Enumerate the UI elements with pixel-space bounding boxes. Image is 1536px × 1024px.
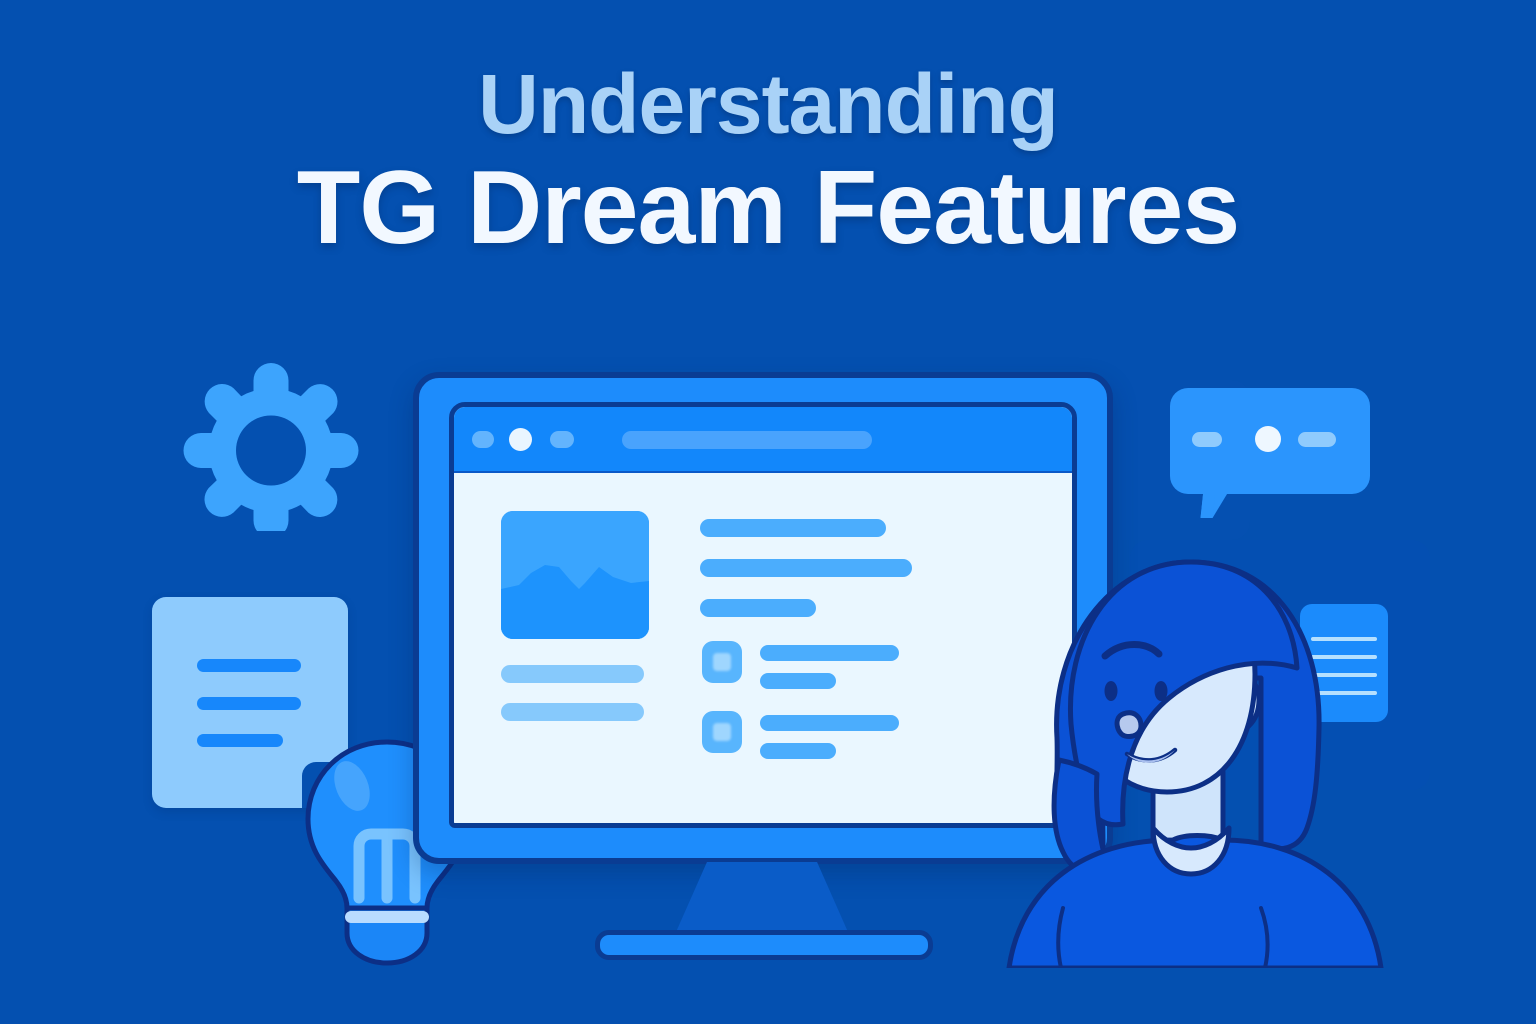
chat-dash-right [1298, 432, 1336, 447]
list-item-1-line-1 [760, 645, 899, 661]
chat-bubble-icon [1170, 388, 1370, 524]
document-line [197, 697, 301, 710]
monitor-stand-base [595, 930, 933, 960]
title-line-1: Understanding [0, 62, 1536, 146]
document-line [197, 659, 301, 672]
app-tile-icon[interactable] [702, 711, 742, 753]
text-bar-left-2 [501, 703, 644, 721]
monitor-stand-neck [676, 862, 848, 932]
browser-content [454, 473, 1072, 828]
text-bar-1 [700, 519, 886, 537]
document-line [197, 734, 283, 747]
chat-bubble-tail [1201, 490, 1230, 518]
app-glyph-icon [713, 653, 731, 671]
chat-dot-center-icon [1255, 426, 1281, 452]
person-illustration [985, 528, 1405, 968]
browser-titlebar [454, 407, 1072, 473]
list-item-2-line-2 [760, 743, 836, 759]
image-placeholder [501, 511, 649, 639]
app-glyph-icon [713, 723, 731, 741]
text-bar-2 [700, 559, 912, 577]
app-tile-icon[interactable] [702, 641, 742, 683]
page-title: Understanding TG Dream Features [0, 62, 1536, 263]
window-dot-2-icon[interactable] [509, 428, 532, 451]
gear-icon [176, 356, 366, 531]
chat-bubble-body [1170, 388, 1370, 494]
browser-window [449, 402, 1077, 828]
window-dot-3-icon[interactable] [550, 431, 574, 448]
address-bar[interactable] [622, 431, 872, 449]
text-bar-3 [700, 599, 816, 617]
list-item-1-line-2 [760, 673, 836, 689]
illustration-canvas: Understanding TG Dream Features [0, 0, 1536, 1024]
text-bar-left-1 [501, 665, 644, 683]
chat-dash-left [1192, 432, 1222, 447]
title-line-2: TG Dream Features [0, 154, 1536, 263]
list-item-2-line-1 [760, 715, 899, 731]
window-dot-1-icon[interactable] [472, 431, 494, 448]
